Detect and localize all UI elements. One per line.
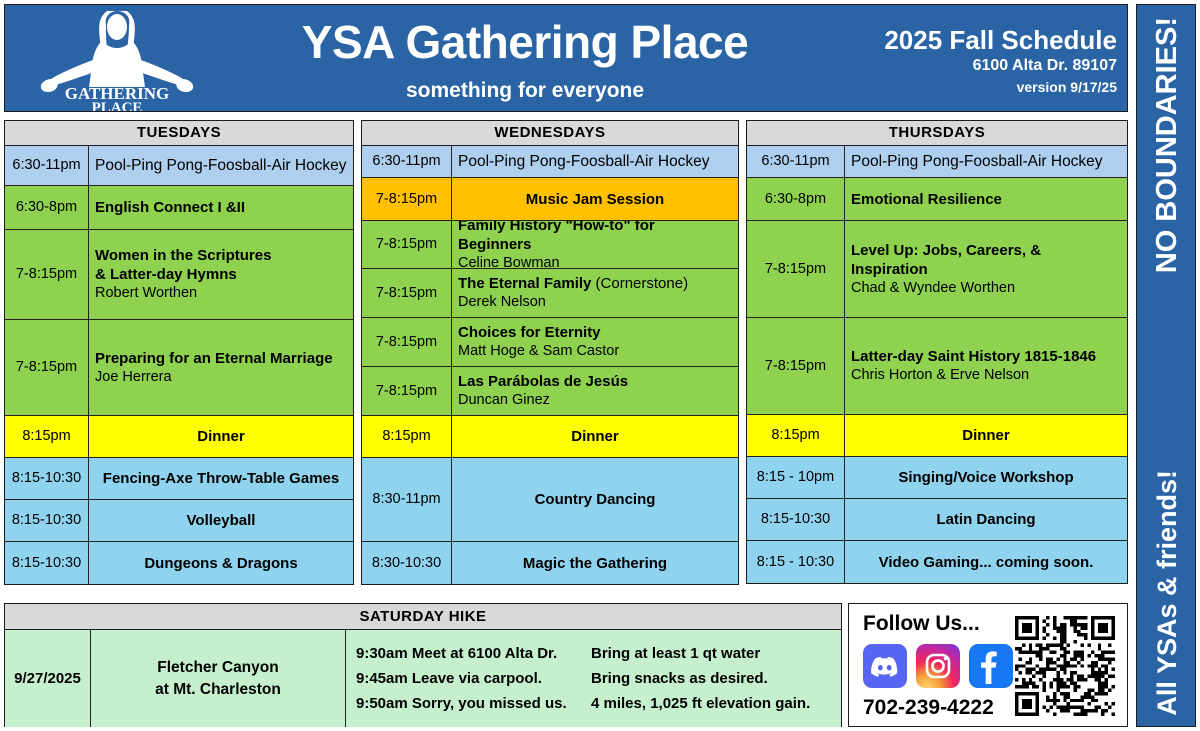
schedule-event-title: Music Jam Session — [526, 190, 664, 209]
schedule-event-title: Emotional Resilience — [851, 190, 1121, 209]
schedule-row: 6:30-11pmPool-Ping Pong-Foosball-Air Hoc… — [362, 146, 738, 178]
schedule-event-title-note: (Cornerstone) — [596, 275, 689, 292]
schedule-row: 7-8:15pmLatter-day Saint History 1815-18… — [747, 318, 1127, 415]
hike-detail-row: 9:30am Meet at 6100 Alta Dr. Bring at le… — [356, 641, 841, 666]
schedule-event-title: Family History "How-to" for Beginners — [458, 221, 732, 254]
schedule-event-presenter: Duncan Ginez — [458, 391, 732, 410]
schedule-season-label: 2025 Fall Schedule — [884, 25, 1117, 55]
day-rows-thursdays: 6:30-11pmPool-Ping Pong-Foosball-Air Hoc… — [747, 146, 1127, 583]
side-banner: NO BOUNDARIES! All YSAs & friends! — [1136, 4, 1196, 727]
side-banner-top-text: NO BOUNDARIES! — [1151, 17, 1184, 273]
schedule-event-title: Singing/Voice Workshop — [898, 468, 1073, 487]
schedule-row-event: The Eternal Family (Cornerstone)Derek Ne… — [452, 269, 738, 317]
schedule-row: 7-8:15pmMusic Jam Session — [362, 178, 738, 221]
bottom-section: SATURDAY HIKE 9/27/2025 Fletcher Canyon … — [4, 603, 1128, 727]
schedule-row-time: 8:15 - 10pm — [747, 457, 845, 498]
schedule-row-time: 8:15 - 10:30 — [747, 541, 845, 583]
schedule-row-event: Dinner — [845, 415, 1127, 456]
schedule-row-time: 7-8:15pm — [362, 221, 452, 268]
schedule-row-time: 8:15-10:30 — [5, 458, 89, 499]
side-banner-bottom-text: All YSAs & friends! — [1152, 470, 1183, 716]
schedule-row: 8:15-10:30Volleyball — [5, 500, 353, 542]
instagram-icon[interactable] — [916, 644, 960, 688]
schedule-row-event: Dinner — [452, 416, 738, 457]
schedule-row: 8:15-10:30Fencing-Axe Throw-Table Games — [5, 458, 353, 500]
schedule-row: 7-8:15pmThe Eternal Family (Cornerstone)… — [362, 269, 738, 318]
schedule-row-event: Latin Dancing — [845, 499, 1127, 540]
schedule-event-title: Magic the Gathering — [523, 554, 667, 573]
social-icons-row — [863, 644, 1013, 688]
schedule-row-time: 8:30-10:30 — [362, 542, 452, 584]
schedule-row: 6:30-11pmPool-Ping Pong-Foosball-Air Hoc… — [5, 146, 353, 186]
hike-date: 9/27/2025 — [5, 630, 91, 727]
schedule-event-title: Level Up: Jobs, Careers, & Inspiration — [851, 241, 1121, 279]
schedule-event-title: Pool-Ping Pong-Foosball-Air Hockey — [95, 156, 347, 175]
schedule-row: 7-8:15pmPreparing for an Eternal Marriag… — [5, 320, 353, 416]
schedule-event-title: Dinner — [962, 426, 1010, 445]
schedule-event-presenter: Celine Bowman — [458, 254, 732, 268]
schedule-row-event: Preparing for an Eternal MarriageJoe Her… — [89, 320, 353, 415]
schedule-row-time: 6:30-11pm — [362, 146, 452, 177]
schedule-row-event: Latter-day Saint History 1815-1846Chris … — [845, 318, 1127, 414]
schedule-row-time: 7-8:15pm — [5, 320, 89, 415]
follow-us-box: Follow Us... — [848, 603, 1128, 727]
schedule-row-time: 7-8:15pm — [362, 269, 452, 317]
day-column-thursdays: THURSDAYS 6:30-11pmPool-Ping Pong-Foosba… — [746, 120, 1128, 584]
logo-text-place: PLACE — [92, 100, 143, 111]
schedule-row-event: Choices for EternityMatt Hoge & Sam Cast… — [452, 318, 738, 366]
schedule-row-event: Volleyball — [89, 500, 353, 541]
schedule-event-title: Preparing for an Eternal Marriage — [95, 349, 347, 368]
saturday-hike-heading: SATURDAY HIKE — [5, 604, 841, 630]
hike-detail-right: Bring at least 1 qt water — [591, 641, 841, 666]
schedule-event-presenter: Chad & Wyndee Worthen — [851, 279, 1121, 298]
day-header-wednesdays: WEDNESDAYS — [362, 121, 738, 146]
version-label: version 9/17/25 — [884, 77, 1117, 97]
schedule-event-presenter: Joe Herrera — [95, 368, 347, 387]
schedule-event-title: Fencing-Axe Throw-Table Games — [103, 469, 339, 488]
day-rows-tuesdays: 6:30-11pmPool-Ping Pong-Foosball-Air Hoc… — [5, 146, 353, 584]
schedule-row-time: 8:15pm — [362, 416, 452, 457]
schedule-row-time: 8:15pm — [747, 415, 845, 456]
schedule-row-event: Pool-Ping Pong-Foosball-Air Hockey — [89, 146, 353, 185]
schedule-row-event: Music Jam Session — [452, 178, 738, 220]
schedule-row: 8:30-10:30Magic the Gathering — [362, 542, 738, 584]
schedule-row: 8:15-10:30Latin Dancing — [747, 499, 1127, 541]
schedule-row: 8:15 - 10:30Video Gaming... coming soon. — [747, 541, 1127, 583]
schedule-row-event: Singing/Voice Workshop — [845, 457, 1127, 498]
hike-detail-left: 9:45am Leave via carpool. — [356, 666, 591, 691]
hike-location: Fletcher Canyon at Mt. Charleston — [91, 630, 346, 727]
day-column-tuesdays: TUESDAYS 6:30-11pmPool-Ping Pong-Foosbal… — [4, 120, 354, 585]
schedule-row-event: English Connect I &II — [89, 186, 353, 229]
hike-location-line1: Fletcher Canyon — [157, 657, 278, 679]
phone-number: 702-239-4222 — [863, 696, 994, 720]
schedule-row-event: Country Dancing — [452, 458, 738, 541]
schedule-row: 7-8:15pmFamily History "How-to" for Begi… — [362, 221, 738, 269]
schedule-row-event: Dinner — [89, 416, 353, 457]
schedule-row-time: 7-8:15pm — [362, 178, 452, 220]
schedule-event-title: Dungeons & Dragons — [144, 554, 297, 573]
schedule-row-event: Magic the Gathering — [452, 542, 738, 584]
schedule-row: 6:30-8pmEnglish Connect I &II — [5, 186, 353, 230]
schedule-row-event: Video Gaming... coming soon. — [845, 541, 1127, 583]
schedule-event-title: Choices for Eternity — [458, 323, 732, 342]
schedule-row: 7-8:15pmLevel Up: Jobs, Careers, & Inspi… — [747, 221, 1127, 318]
schedule-row: 8:15pmDinner — [5, 416, 353, 458]
schedule-row-time: 8:15-10:30 — [5, 500, 89, 541]
follow-us-title: Follow Us... — [863, 612, 980, 636]
discord-icon[interactable] — [863, 644, 907, 688]
hike-location-line2: at Mt. Charleston — [155, 679, 281, 701]
schedule-row-time: 6:30-8pm — [5, 186, 89, 229]
hike-detail-right: Bring snacks as desired. — [591, 666, 841, 691]
schedule-row-time: 7-8:15pm — [362, 318, 452, 366]
schedule-event-title: Pool-Ping Pong-Foosball-Air Hockey — [851, 152, 1121, 171]
schedule-row: 7-8:15pmWomen in the Scriptures& Latter-… — [5, 230, 353, 320]
schedule-event-title: Volleyball — [187, 511, 256, 530]
schedule-event-title: The Eternal Family (Cornerstone) — [458, 274, 732, 293]
schedule-event-presenter: Chris Horton & Erve Nelson — [851, 366, 1121, 385]
qr-code[interactable] — [1015, 616, 1115, 716]
schedule-event-presenter: Derek Nelson — [458, 293, 732, 312]
schedule-row-time: 6:30-11pm — [5, 146, 89, 185]
schedule-event-title: Video Gaming... coming soon. — [879, 553, 1094, 572]
schedule-row: 8:30-11pmCountry Dancing — [362, 458, 738, 542]
schedule-event-title: Las Parábolas de Jesús — [458, 372, 732, 391]
schedule-row: 6:30-8pmEmotional Resilience — [747, 178, 1127, 221]
schedule-row-event: Las Parábolas de JesúsDuncan Ginez — [452, 367, 738, 415]
saturday-hike-box: SATURDAY HIKE 9/27/2025 Fletcher Canyon … — [4, 603, 842, 727]
schedule-event-title: Dinner — [571, 427, 619, 446]
hike-detail-row: 9:45am Leave via carpool. Bring snacks a… — [356, 666, 841, 691]
day-header-tuesdays: TUESDAYS — [5, 121, 353, 146]
schedule-event-title: Pool-Ping Pong-Foosball-Air Hockey — [458, 152, 732, 171]
day-column-wednesdays: WEDNESDAYS 6:30-11pmPool-Ping Pong-Foosb… — [361, 120, 739, 585]
schedule-row-event: Dungeons & Dragons — [89, 542, 353, 584]
schedule-row-time: 8:15-10:30 — [5, 542, 89, 584]
schedule-row-event: Women in the Scriptures& Latter-day Hymn… — [89, 230, 353, 319]
schedule-row: 7-8:15pmLas Parábolas de JesúsDuncan Gin… — [362, 367, 738, 416]
address-label: 6100 Alta Dr. 89107 — [884, 55, 1117, 77]
schedule-columns: TUESDAYS 6:30-11pmPool-Ping Pong-Foosbal… — [4, 120, 1128, 598]
schedule-event-title: Latter-day Saint History 1815-1846 — [851, 347, 1121, 366]
schedule-row: 8:15pmDinner — [747, 415, 1127, 457]
schedule-row-event: Pool-Ping Pong-Foosball-Air Hockey — [452, 146, 738, 177]
schedule-row-time: 7-8:15pm — [747, 318, 845, 414]
schedule-row-time: 8:30-11pm — [362, 458, 452, 541]
schedule-event-title: English Connect I &II — [95, 198, 347, 217]
schedule-flyer: YSA GATHERING PLACE YSA Gathering Place … — [0, 0, 1200, 731]
schedule-row-event: Pool-Ping Pong-Foosball-Air Hockey — [845, 146, 1127, 177]
schedule-event-presenter: Robert Worthen — [95, 284, 347, 303]
schedule-row-event: Fencing-Axe Throw-Table Games — [89, 458, 353, 499]
hike-detail-row: 9:50am Sorry, you missed us. 4 miles, 1,… — [356, 691, 841, 716]
hike-detail-left: 9:30am Meet at 6100 Alta Dr. — [356, 641, 591, 666]
hike-detail-right: 4 miles, 1,025 ft elevation gain. — [591, 691, 841, 716]
schedule-row-event: Family History "How-to" for BeginnersCel… — [452, 221, 738, 268]
schedule-row-time: 6:30-11pm — [747, 146, 845, 177]
hike-details: 9:30am Meet at 6100 Alta Dr. Bring at le… — [346, 630, 841, 727]
schedule-row: 8:15-10:30Dungeons & Dragons — [5, 542, 353, 584]
schedule-row-event: Level Up: Jobs, Careers, & InspirationCh… — [845, 221, 1127, 317]
schedule-row: 8:15 - 10pmSinging/Voice Workshop — [747, 457, 1127, 499]
page-header: YSA GATHERING PLACE YSA Gathering Place … — [4, 4, 1128, 112]
title-block: YSA Gathering Place something for everyo… — [205, 13, 845, 103]
schedule-row-time: 8:15-10:30 — [747, 499, 845, 540]
schedule-row: 8:15pmDinner — [362, 416, 738, 458]
schedule-event-presenter: Matt Hoge & Sam Castor — [458, 342, 732, 361]
header-meta: 2025 Fall Schedule 6100 Alta Dr. 89107 v… — [884, 25, 1117, 97]
schedule-row-time: 7-8:15pm — [362, 367, 452, 415]
schedule-row: 7-8:15pmChoices for EternityMatt Hoge & … — [362, 318, 738, 367]
facebook-icon[interactable] — [969, 644, 1013, 688]
schedule-row-time: 7-8:15pm — [5, 230, 89, 319]
schedule-row-time: 6:30-8pm — [747, 178, 845, 220]
schedule-event-title: Dinner — [197, 427, 245, 446]
schedule-row-event: Emotional Resilience — [845, 178, 1127, 220]
schedule-row-time: 8:15pm — [5, 416, 89, 457]
schedule-row-time: 7-8:15pm — [747, 221, 845, 317]
schedule-event-title: Country Dancing — [535, 490, 656, 509]
schedule-event-title: Latin Dancing — [936, 510, 1035, 529]
page-title: YSA Gathering Place — [205, 13, 845, 71]
day-header-thursdays: THURSDAYS — [747, 121, 1127, 146]
hike-detail-left: 9:50am Sorry, you missed us. — [356, 691, 591, 716]
day-rows-wednesdays: 6:30-11pmPool-Ping Pong-Foosball-Air Hoc… — [362, 146, 738, 584]
ysa-gathering-place-logo: YSA GATHERING PLACE — [40, 11, 195, 111]
page-subtitle: something for everyone — [205, 79, 845, 103]
schedule-event-title: Women in the Scriptures& Latter-day Hymn… — [95, 246, 347, 284]
schedule-row: 6:30-11pmPool-Ping Pong-Foosball-Air Hoc… — [747, 146, 1127, 178]
